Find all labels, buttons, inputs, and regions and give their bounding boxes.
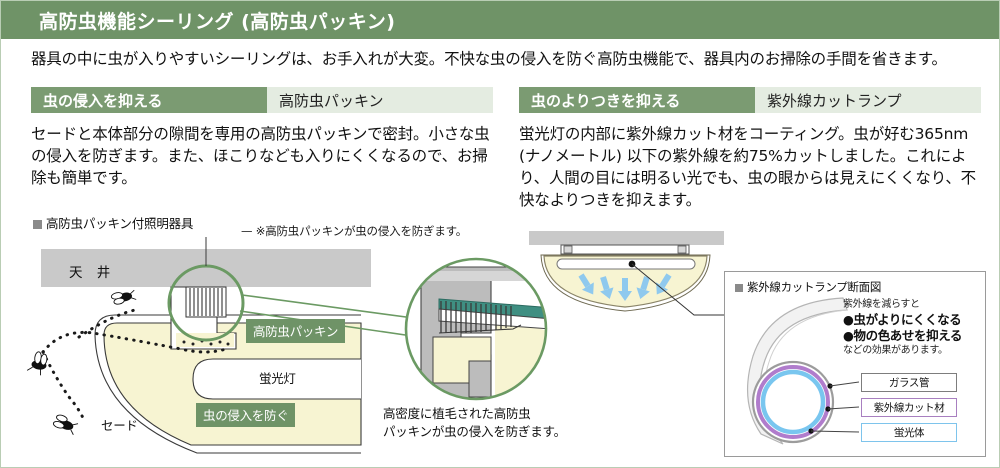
lamp-cross-section-drawing xyxy=(731,294,859,454)
legend-uv-cut-material: 紫外線カット材 xyxy=(861,398,957,417)
chip-packing: 高防虫パッキン xyxy=(246,319,345,343)
section-left-title: 虫の侵入を抑える xyxy=(31,87,267,113)
lead-paragraph: 器具の中に虫が入りやすいシーリングは、お手入れが大変。不快な虫の侵入を防ぐ高防虫… xyxy=(31,49,981,70)
subcaption-left: 高防虫パッキン付照明器具 xyxy=(33,213,193,232)
ceiling-slab-right xyxy=(529,231,724,245)
blurb-bullet-2: ●物の色あせを抑える xyxy=(843,328,987,344)
uv-lamp-diagram xyxy=(519,229,734,339)
page-root: 高防虫機能シーリング (高防虫パッキン) 器具の中に虫が入りやすいシーリングは、… xyxy=(0,0,1000,468)
blurb-tail: などの効果があります。 xyxy=(843,344,987,358)
label-shade: セード xyxy=(101,415,138,434)
cross-section-blurb: 紫外線を減らすと ●虫がよりにくくなる ●物の色あせを抑える などの効果がありま… xyxy=(843,298,987,358)
magnified-bristles xyxy=(441,301,511,333)
ring-lamp xyxy=(557,259,695,269)
body-text-right: 蛍光灯の内部に紫外線カット材をコーティング。虫が好む365nm (ナノメートル)… xyxy=(519,123,987,211)
cross-section-panel: 紫外線カットランプ断面図 紫外線を減らすと ●虫がよりにくくなる ●物の色あせを… xyxy=(724,271,986,457)
cross-section-title-text: 紫外線カットランプ断面図 xyxy=(747,280,881,294)
square-bullet-icon xyxy=(33,220,42,229)
section-right-title: 虫のよりつきを抑える xyxy=(519,87,755,113)
section-header-left: 虫の侵入を抑える 高防虫パッキン xyxy=(31,87,493,113)
title-accent-block xyxy=(1,1,33,39)
fixture-baseplate xyxy=(561,245,689,254)
section-left-subtitle: 高防虫パッキン xyxy=(267,87,493,113)
page-title: 高防虫機能シーリング (高防虫パッキン) xyxy=(33,7,395,34)
legend-phosphor: 蛍光体 xyxy=(861,423,957,442)
blurb-lead: 紫外線を減らすと xyxy=(843,298,987,312)
label-fluorescent: 蛍光灯 xyxy=(259,368,296,387)
section-header-right: 虫のよりつきを抑える 紫外線カットランプ xyxy=(519,87,981,113)
blurb-bullet-1: ●虫がよりにくくなる xyxy=(843,312,987,328)
body-text-left: セードと本体部分の隙間を専用の高防虫パッキンで密封。小さな虫の侵入を防ぎます。ま… xyxy=(31,123,501,189)
legend-glass-tube: ガラス管 xyxy=(861,373,957,392)
subcaption-left-text: 高防虫パッキン付照明器具 xyxy=(46,216,193,231)
chip-prevent-entry: 虫の侵入を防ぐ xyxy=(196,403,295,427)
square-bullet-icon-2 xyxy=(735,284,743,292)
section-right-subtitle: 紫外線カットランプ xyxy=(755,87,981,113)
label-ceiling: 天 井 xyxy=(69,261,115,281)
title-text-container: 高防虫機能シーリング (高防虫パッキン) xyxy=(33,1,999,39)
title-bar: 高防虫機能シーリング (高防虫パッキン) xyxy=(1,1,999,39)
cross-section-title: 紫外線カットランプ断面図 xyxy=(735,279,881,295)
magnifier-caption: 高密度に植毛された高防虫パッキンが虫の侵入を防ぎます。 xyxy=(383,405,566,441)
